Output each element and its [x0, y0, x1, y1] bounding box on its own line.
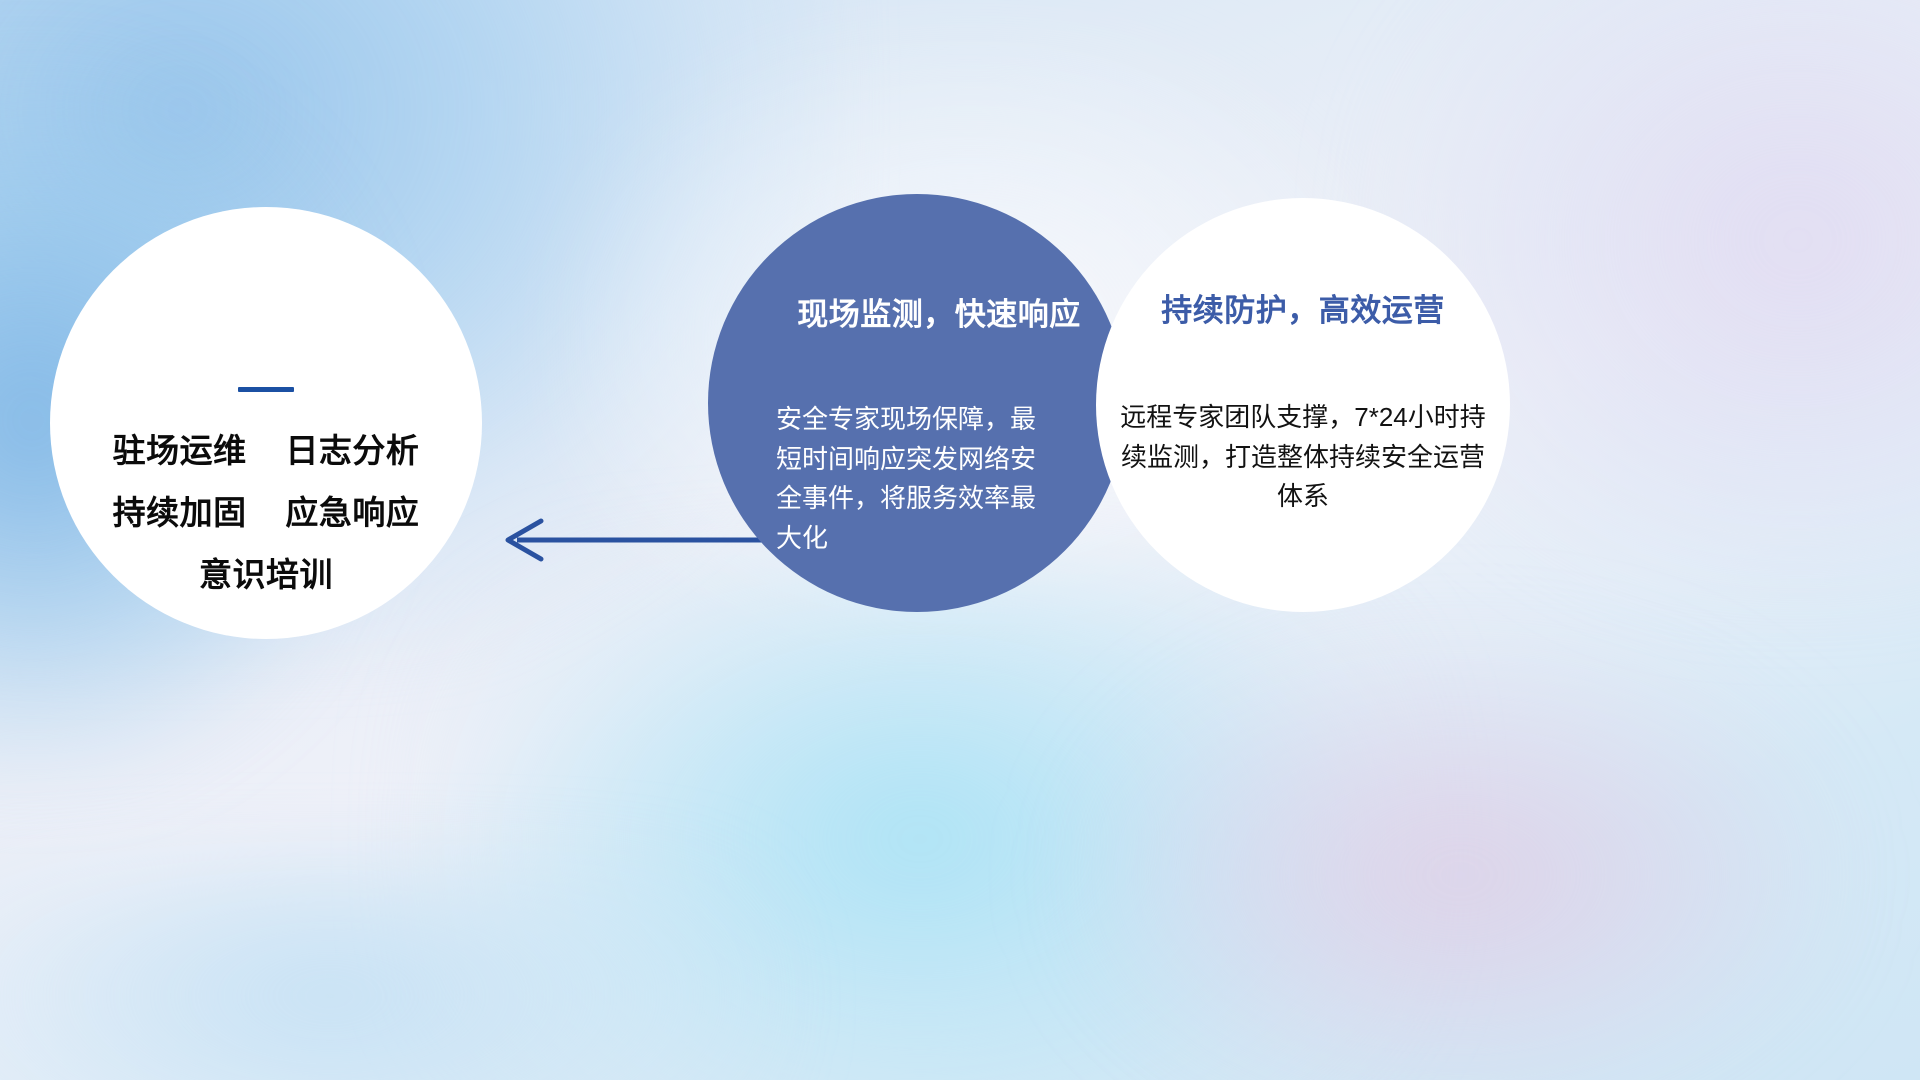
right-continuous-protection-circle[interactable]: 持续防护，高效运营 远程专家团队支撑，7*24小时持续监测，打造整体持续安全运营… — [1096, 198, 1510, 612]
right-circle-content: 持续防护，高效运营 远程专家团队支撑，7*24小时持续监测，打造整体持续安全运营… — [1096, 294, 1510, 517]
middle-circle-content: 现场监测，快速响应 安全专家现场保障，最短时间响应突发网络安全事件，将服务效率最… — [708, 298, 1126, 558]
left-service-circle[interactable]: 驻场运维 日志分析 持续加固 应急响应 意识培训 — [50, 207, 482, 639]
left-service-line-3: 意识培训 — [50, 558, 482, 591]
left-circle-content: 驻场运维 日志分析 持续加固 应急响应 意识培训 — [50, 387, 482, 591]
middle-circle-body: 安全专家现场保障，最短时间响应突发网络安全事件，将服务效率最大化 — [776, 400, 1052, 558]
background-glow-bottom — [0, 860, 780, 1080]
left-service-line-2: 持续加固 应急响应 — [50, 496, 482, 529]
slide-canvas: 驻场运维 日志分析 持续加固 应急响应 意识培训 现场监测，快速响应 安全专家现… — [0, 0, 1920, 1080]
right-circle-title: 持续防护，高效运营 — [1118, 294, 1488, 328]
middle-circle-title: 现场监测，快速响应 — [768, 298, 1110, 332]
right-circle-body: 远程专家团队支撑，7*24小时持续监测，打造整体持续安全运营体系 — [1118, 398, 1488, 517]
left-service-line-1: 驻场运维 日志分析 — [50, 434, 482, 467]
middle-onsite-monitoring-circle[interactable]: 现场监测，快速响应 安全专家现场保障，最短时间响应突发网络安全事件，将服务效率最… — [708, 194, 1126, 612]
background-glow-pink — [1080, 640, 1840, 1080]
divider-dash-icon — [238, 387, 294, 392]
